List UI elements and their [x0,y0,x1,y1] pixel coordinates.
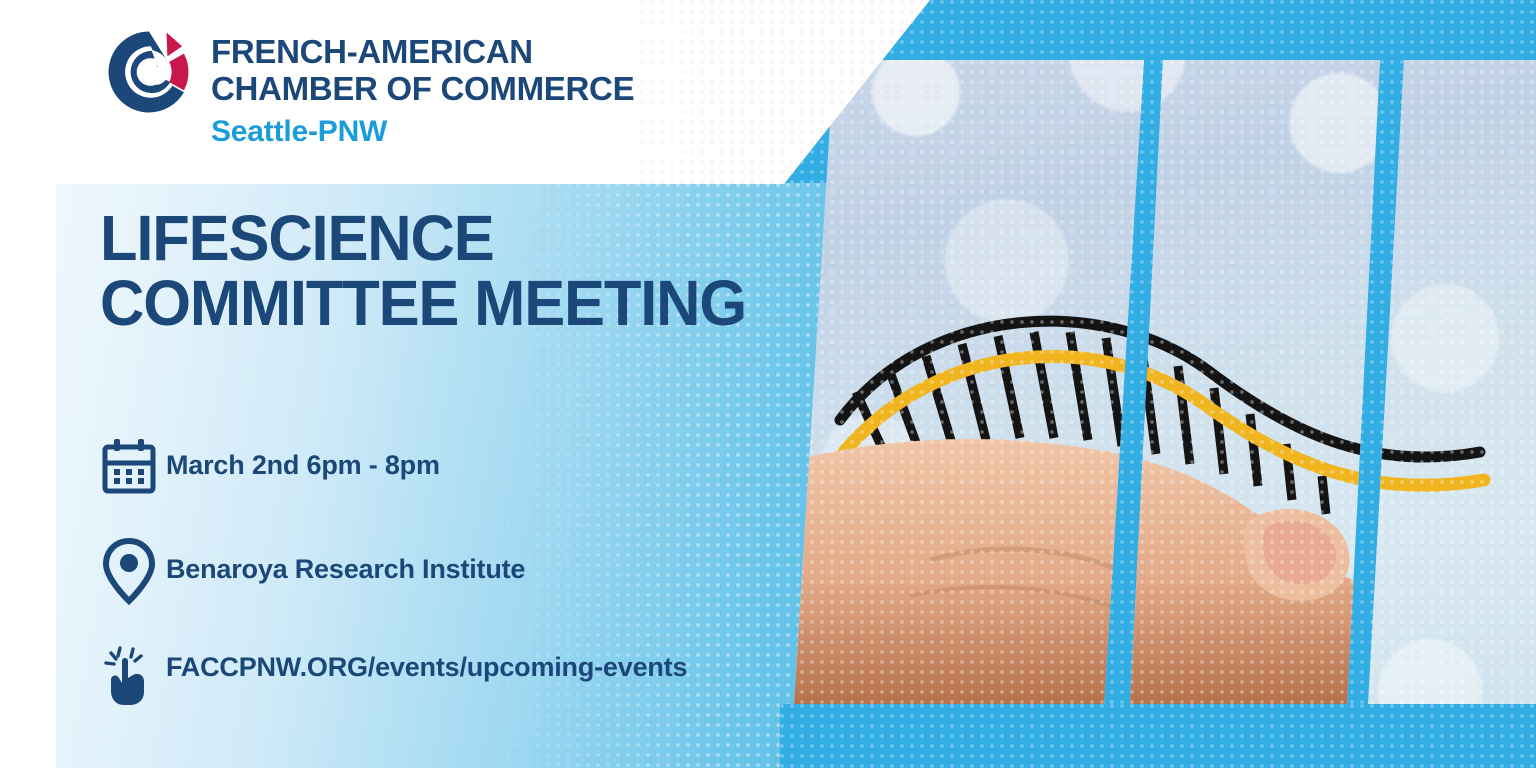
dna-hand-photo [1130,60,1380,705]
photo-dot-texture [1368,60,1536,705]
brand-name-line-2: CHAMBER OF COMMERCE [211,71,634,108]
brand-name-line-1: FRENCH-AMERICAN [211,34,634,71]
page-title: LIFESCIENCE COMMITTEE MEETING [100,206,887,337]
dna-hand-photo [1368,60,1536,705]
bottom-band-dot-texture [780,704,1536,768]
detail-text-date: March 2nd 6pm - 8pm [166,432,440,483]
brand-wordmark: FRENCH-AMERICAN CHAMBER OF COMMERCE Seat… [211,26,634,149]
event-banner: FRENCH-AMERICAN CHAMBER OF COMMERCE Seat… [0,0,1536,768]
headline-line-2: COMMITTEE MEETING [100,271,887,336]
left-white-margin [0,0,56,768]
dna-hand-photo [794,60,1144,705]
location-pin-icon [100,536,166,606]
bottom-blue-band [780,704,1536,768]
click-hand-icon [100,640,166,710]
detail-text-location: Benaroya Research Institute [166,536,525,587]
event-details-list: March 2nd 6pm - 8pm Benaroya Research In… [100,432,720,710]
photo-panel-middle [1130,60,1380,705]
photo-dot-texture [1130,60,1380,705]
brand-logo-lockup: FRENCH-AMERICAN CHAMBER OF COMMERCE Seat… [103,26,634,149]
photo-collage [780,0,1536,768]
detail-row-location: Benaroya Research Institute [100,536,720,606]
detail-row-date: March 2nd 6pm - 8pm [100,432,720,502]
detail-row-link[interactable]: FACCPNW.ORG/events/upcoming-events [100,640,720,710]
headline-line-1: LIFESCIENCE [100,206,887,271]
calendar-icon [100,432,166,502]
detail-text-link[interactable]: FACCPNW.ORG/events/upcoming-events [166,640,687,685]
photo-dot-texture [794,60,1144,705]
photo-panel-right [1368,60,1536,705]
facc-c-monogram-icon [103,26,195,118]
brand-chapter: Seattle-PNW [211,115,634,149]
photo-panel-left [794,60,1144,705]
